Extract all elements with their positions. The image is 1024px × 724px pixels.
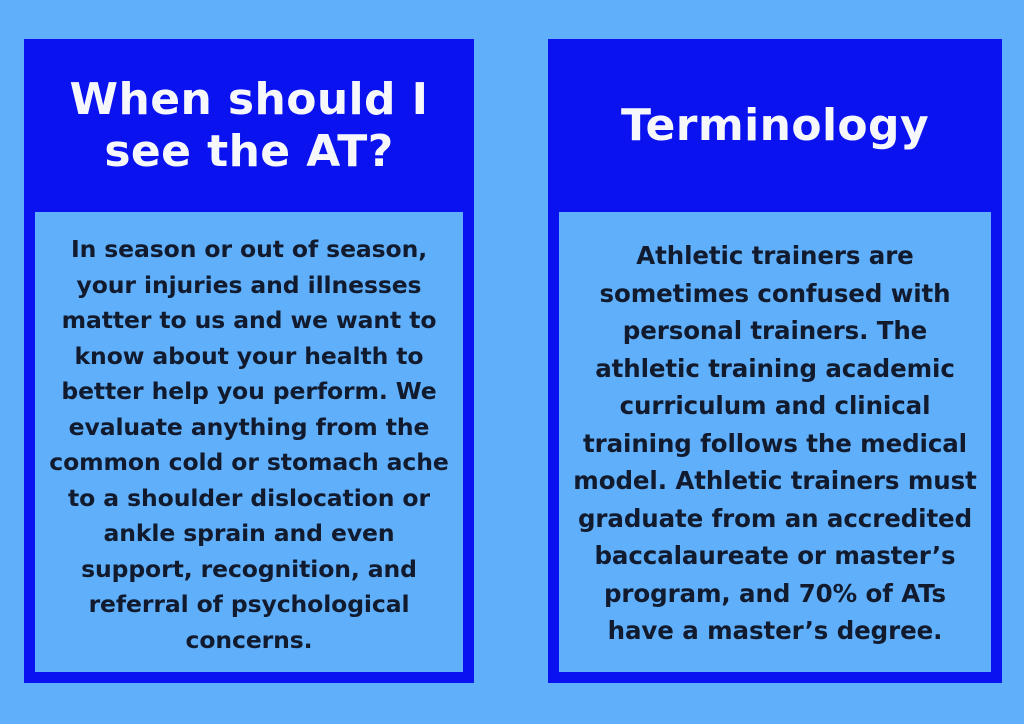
card-title-left: When should I see the AT? xyxy=(49,74,449,178)
info-card-when-should-i-see-the-at: When should I see the AT? In season or o… xyxy=(24,39,474,683)
card-body-right: Athletic trainers are sometimes confused… xyxy=(559,212,991,672)
card-body-text-left: In season or out of season, your injurie… xyxy=(49,232,449,658)
info-card-terminology: Terminology Athletic trainers are someti… xyxy=(548,39,1002,683)
poster-canvas: When should I see the AT? In season or o… xyxy=(0,0,1024,724)
card-title-right: Terminology xyxy=(615,100,935,152)
card-body-left: In season or out of season, your injurie… xyxy=(35,212,463,672)
card-header-left: When should I see the AT? xyxy=(35,39,463,212)
card-header-right: Terminology xyxy=(559,39,991,212)
card-body-text-right: Athletic trainers are sometimes confused… xyxy=(567,237,983,650)
